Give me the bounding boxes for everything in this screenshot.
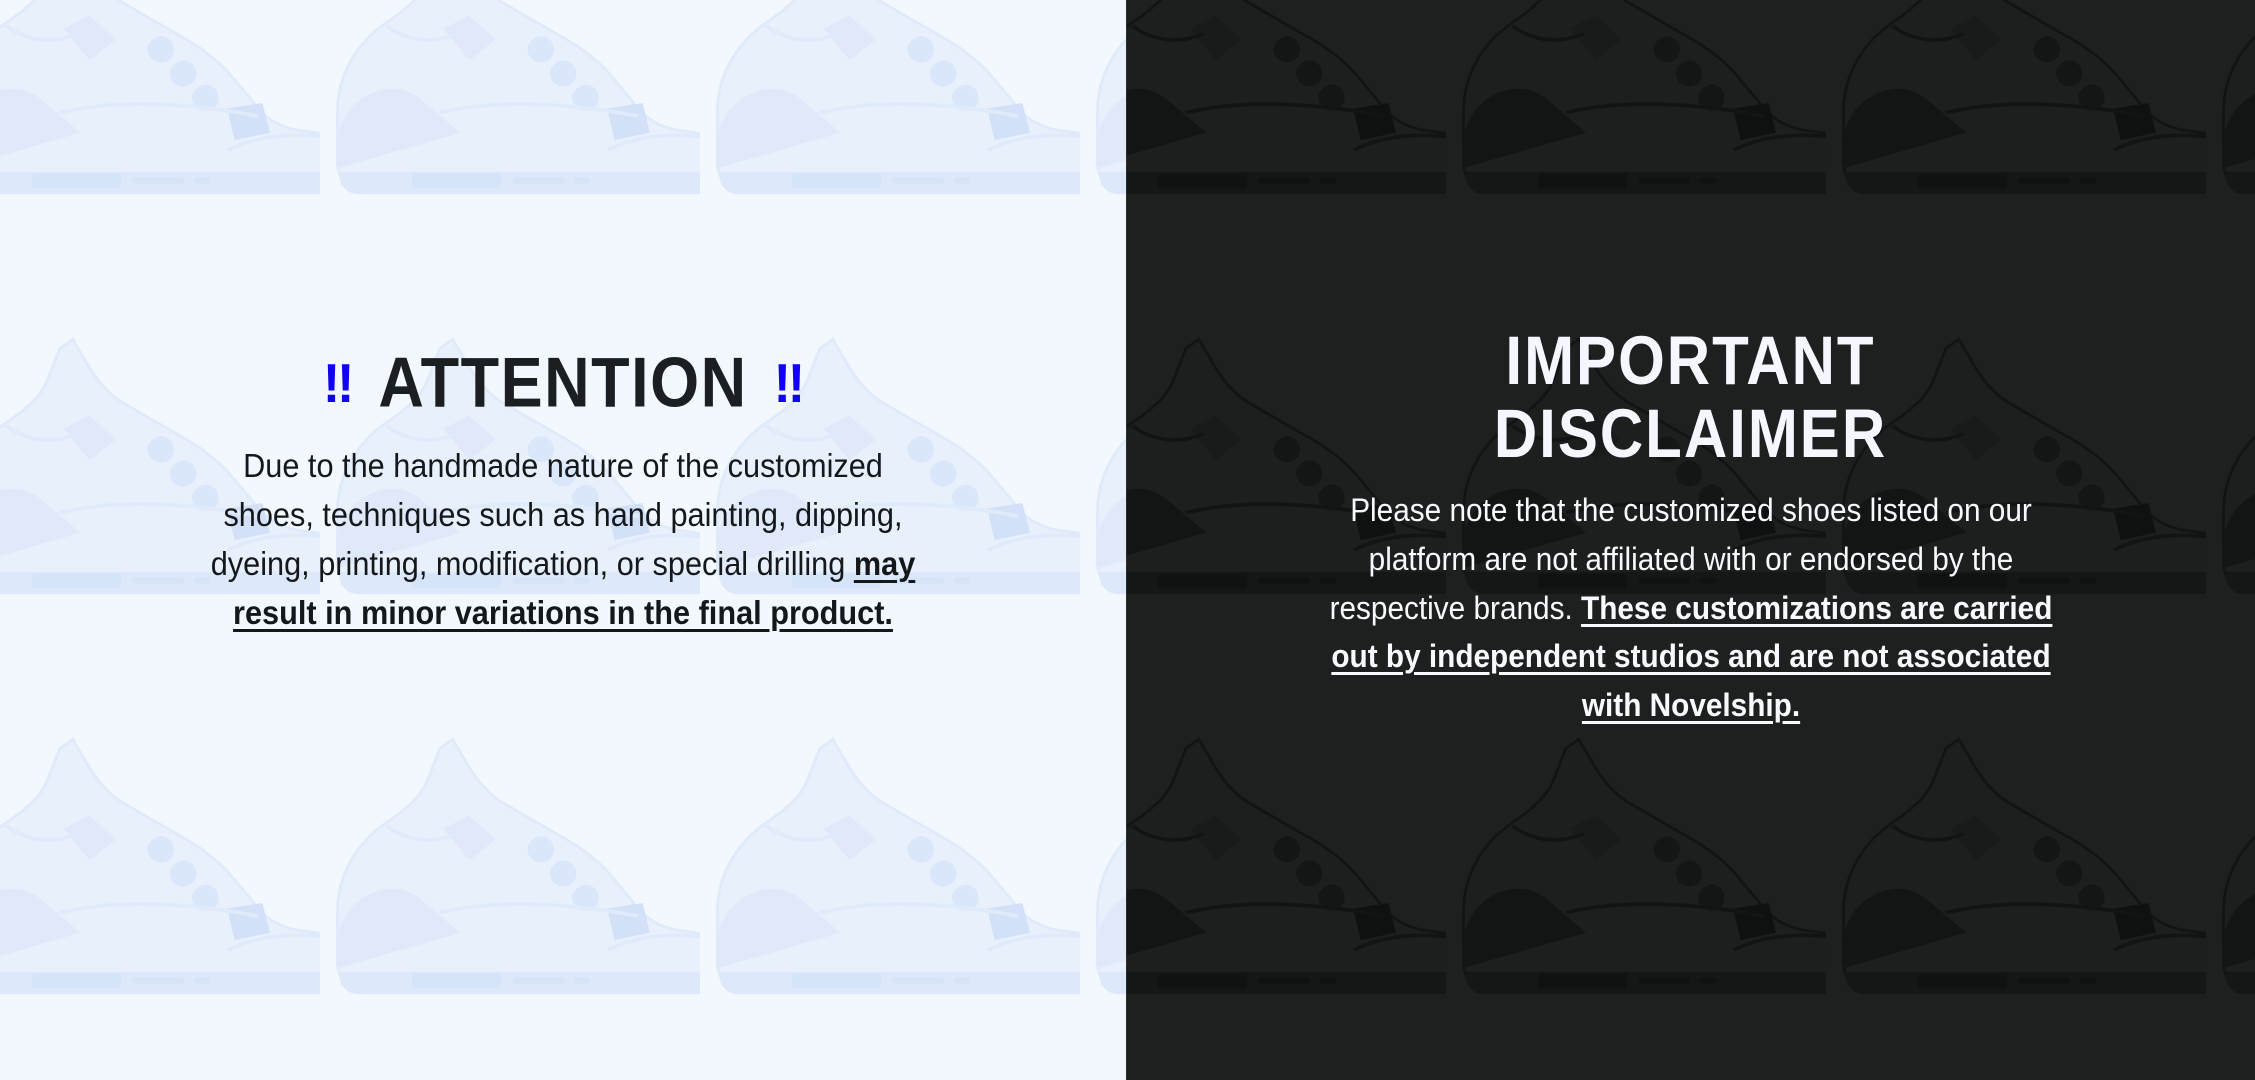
- disclaimer-panel: IMPORTANT DISCLAIMER Please note that th…: [1126, 0, 2255, 1080]
- attention-body-regular: Due to the handmade nature of the custom…: [211, 447, 903, 582]
- panel-divider: [1126, 0, 1127, 1080]
- attention-body: Due to the handmade nature of the custom…: [196, 441, 931, 638]
- attention-content: ‼ ATTENTION ‼ Due to the handmade nature…: [168, 352, 958, 638]
- disclaimer-body: Please note that the customized shoes li…: [1305, 486, 2077, 729]
- attention-heading: ‼ ATTENTION ‼: [168, 352, 958, 415]
- disclaimer-content: IMPORTANT DISCLAIMER Please note that th…: [1276, 330, 2106, 730]
- disclaimer-banner: ‼ ATTENTION ‼ Due to the handmade nature…: [0, 0, 2255, 1080]
- double-exclamation-icon-right: ‼: [774, 356, 803, 411]
- disclaimer-heading-line2: DISCLAIMER: [1276, 399, 2106, 469]
- attention-panel: ‼ ATTENTION ‼ Due to the handmade nature…: [0, 0, 1126, 1080]
- double-exclamation-icon-left: ‼: [323, 356, 352, 411]
- disclaimer-heading: IMPORTANT DISCLAIMER: [1276, 330, 2106, 464]
- disclaimer-heading-line1: IMPORTANT: [1276, 325, 2106, 395]
- attention-heading-text: ATTENTION: [378, 348, 747, 419]
